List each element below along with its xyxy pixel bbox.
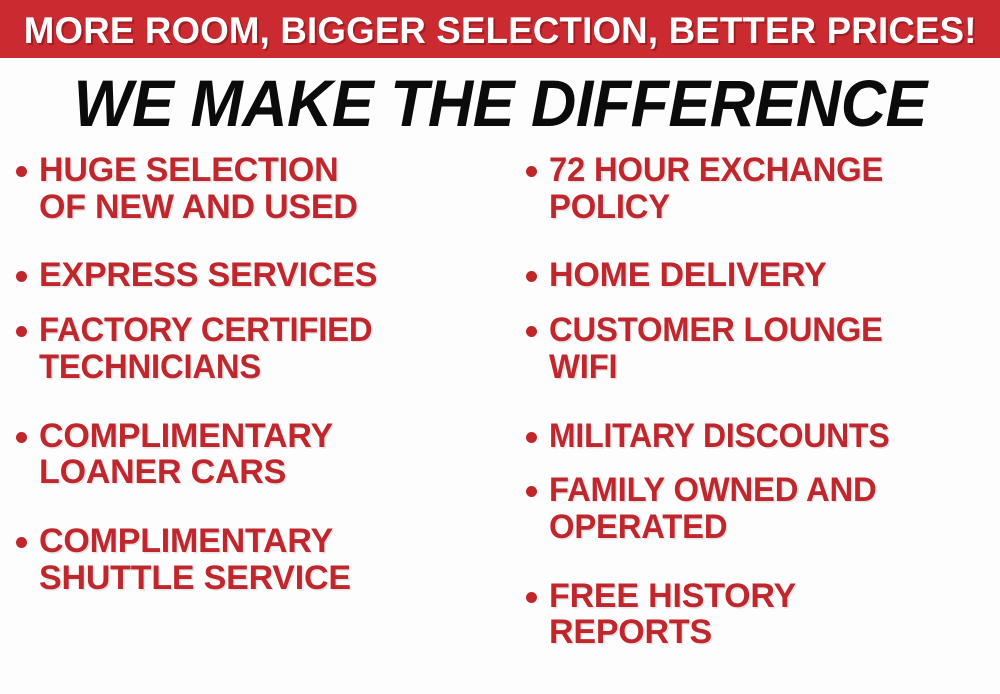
promotional-banner: MORE ROOM, BIGGER SELECTION, BETTER PRIC… — [0, 0, 1000, 694]
bullet-dot-icon — [526, 166, 537, 177]
bullet-dot-icon — [526, 432, 537, 443]
benefits-column-left: HUGE SELECTION OF NEW AND USED EXPRESS S… — [0, 152, 508, 620]
bullet-dot-icon — [526, 486, 537, 497]
strip-headline-text: MORE ROOM, BIGGER SELECTION, BETTER PRIC… — [24, 10, 977, 49]
bullet-dot-icon — [16, 432, 27, 443]
bullet-dot-icon — [16, 326, 27, 337]
list-item: 72 HOUR EXCHANGE POLICY — [526, 152, 1000, 225]
benefits-columns: HUGE SELECTION OF NEW AND USED EXPRESS S… — [0, 152, 1000, 694]
bullet-dot-icon — [16, 537, 27, 548]
benefit-family-owned-and-operated: FAMILY OWNED AND OPERATED — [549, 472, 984, 545]
main-headline: WE MAKE THE DIFFERENCE — [73, 70, 926, 136]
benefit-home-delivery: HOME DELIVERY — [549, 257, 1000, 294]
benefit-huge-selection: HUGE SELECTION OF NEW AND USED — [39, 152, 508, 225]
list-item: HOME DELIVERY — [526, 257, 1000, 294]
benefit-complimentary-loaner-cars: COMPLIMENTARY LOANER CARS — [39, 418, 508, 491]
list-item: COMPLIMENTARY LOANER CARS — [16, 418, 508, 491]
bullet-dot-icon — [526, 271, 537, 282]
list-item: COMPLIMENTARY SHUTTLE SERVICE — [16, 523, 508, 596]
list-item: FAMILY OWNED AND OPERATED — [526, 472, 1000, 545]
benefit-factory-certified-technicians: FACTORY CERTIFIED TECHNICIANS — [39, 312, 492, 385]
headline-container: WE MAKE THE DIFFERENCE — [0, 64, 1000, 142]
list-item: HUGE SELECTION OF NEW AND USED — [16, 152, 508, 225]
list-item: MILITARY DISCOUNTS — [526, 418, 1000, 455]
bullet-dot-icon — [16, 271, 27, 282]
benefit-complimentary-shuttle-service: COMPLIMENTARY SHUTTLE SERVICE — [39, 523, 508, 596]
benefit-72-hour-exchange-policy: 72 HOUR EXCHANGE POLICY — [549, 152, 984, 225]
benefit-military-discounts: MILITARY DISCOUNTS — [549, 418, 973, 455]
list-item: CUSTOMER LOUNGE WIFI — [526, 312, 1000, 385]
bullet-dot-icon — [16, 166, 27, 177]
bullet-dot-icon — [526, 326, 537, 337]
benefit-express-services: EXPRESS SERVICES — [39, 257, 508, 294]
bullet-dot-icon — [526, 592, 537, 603]
benefit-customer-lounge-wifi: CUSTOMER LOUNGE WIFI — [549, 312, 984, 385]
benefit-free-history-reports: FREE HISTORY REPORTS — [549, 578, 1000, 651]
benefits-column-right: 72 HOUR EXCHANGE POLICY HOME DELIVERY CU… — [508, 152, 1000, 675]
list-item: FREE HISTORY REPORTS — [526, 578, 1000, 651]
top-red-strip: MORE ROOM, BIGGER SELECTION, BETTER PRIC… — [0, 0, 1000, 58]
list-item: FACTORY CERTIFIED TECHNICIANS — [16, 312, 508, 385]
list-item: EXPRESS SERVICES — [16, 257, 508, 294]
